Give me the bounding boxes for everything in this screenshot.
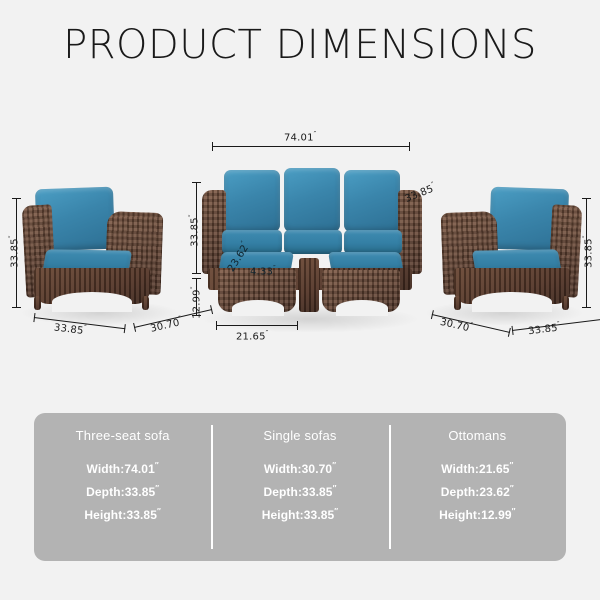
- right-chair-base-arch: [472, 292, 552, 312]
- sofa-back-cushion-3: [344, 170, 400, 232]
- left-chair-leg-front: [34, 296, 41, 310]
- infographic-canvas: PRODUCT DIMENSIONS 33.85″ 33.85″: [0, 0, 600, 600]
- right-chair-leg-front: [562, 296, 569, 310]
- sofa-seat-cushion-2: [284, 230, 342, 254]
- spec-row-depth: Depth:33.85″: [86, 479, 159, 502]
- spec-header: Three-seat sofa: [76, 428, 170, 443]
- spec-header: Ottomans: [448, 428, 506, 443]
- spec-row-height: Height:33.85″: [84, 502, 161, 525]
- left-chair-leg-back: [142, 296, 149, 310]
- sofa-seat-cushion-3: [344, 230, 402, 254]
- left-chair-base-arch: [52, 292, 132, 312]
- right-chair-leg-back: [454, 296, 461, 310]
- spec-row-height: Height:12.99″: [439, 502, 516, 525]
- spec-row-width: Width:30.70″: [264, 456, 336, 479]
- ottoman-left-arch: [232, 300, 284, 316]
- spec-column-three-seat-sofa: Three-seat sofa Width:74.01″ Depth:33.85…: [34, 413, 211, 561]
- spec-row-depth: Depth:33.85″: [263, 479, 336, 502]
- left-chair-height-label: 33.85″: [7, 228, 20, 276]
- ottoman-width-label: 21.65″: [236, 329, 268, 342]
- ottoman-height-label: 12.99″: [189, 281, 202, 325]
- right-chair-width-label: 33.85″: [527, 320, 561, 337]
- specifications-panel: Three-seat sofa Width:74.01″ Depth:33.85…: [34, 413, 566, 561]
- ottoman-center-post: [299, 258, 319, 312]
- sofa-back-cushion-1: [224, 170, 280, 232]
- spec-row-width: Width:21.65″: [441, 456, 513, 479]
- specifications-columns: Three-seat sofa Width:74.01″ Depth:33.85…: [34, 413, 566, 561]
- sofa-width-line: [212, 146, 410, 147]
- sofa-width-label: 74.01″: [284, 130, 316, 143]
- spec-column-ottomans: Ottomans Width:21.65″ Depth:23.62″ Heigh…: [389, 413, 566, 561]
- ottoman-right-arch: [336, 300, 388, 316]
- sofa-back-cushion-2: [284, 168, 340, 232]
- sofa-seat-gap-label: 4.33″: [250, 264, 276, 277]
- page-title: PRODUCT DIMENSIONS: [0, 22, 600, 68]
- spec-row-width: Width:74.01″: [87, 456, 159, 479]
- right-chair-height-label: 33.85″: [581, 228, 594, 276]
- sofa-height-label: 33.85″: [187, 207, 200, 255]
- spec-row-depth: Depth:23.62″: [441, 479, 514, 502]
- ottoman-width-line: [216, 325, 298, 326]
- spec-row-height: Height:33.85″: [262, 502, 339, 525]
- spec-column-single-sofas: Single sofas Width:30.70″ Depth:33.85″ H…: [211, 413, 388, 561]
- left-chair-width-label: 33.85″: [53, 320, 87, 337]
- sofa-seat-cushion-1: [222, 230, 282, 254]
- spec-header: Single sofas: [263, 428, 336, 443]
